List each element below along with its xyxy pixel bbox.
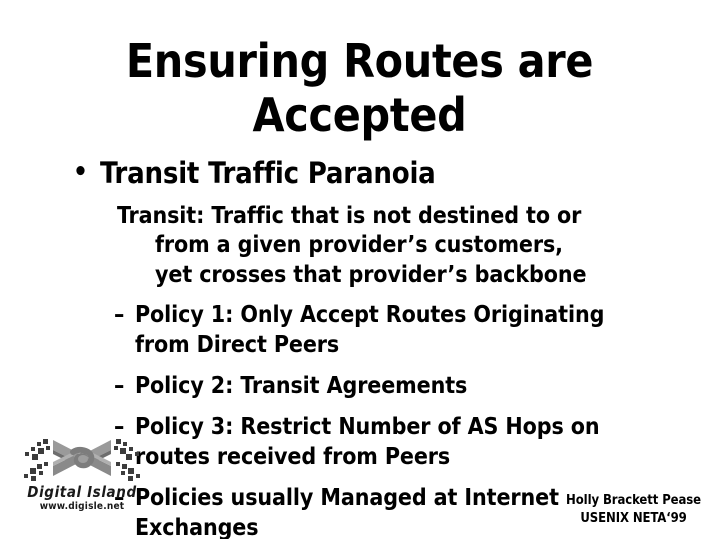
outline-level1-label: Transit Traffic Paranoia: [100, 156, 436, 190]
credit-venue: USENIX NETA‘99: [566, 510, 701, 528]
outline-item-policy-1: – Policy 1: Only Accept Routes Originati…: [0, 301, 640, 361]
outline-level1-item: • Transit Traffic Paranoia: [0, 157, 719, 190]
outline-item-policy-2: – Policy 2: Transit Agreements: [0, 372, 640, 402]
outline-item-label: Policy 2: Transit Agreements: [135, 373, 467, 399]
outline-item-label: Policy 1: Only Accept Routes Originating…: [135, 302, 604, 358]
logo-name: Digital Island: [23, 483, 141, 501]
dash-bullet-icon: –: [114, 372, 124, 402]
slide-canvas: Ensuring Routes are Accepted • Transit T…: [0, 0, 719, 539]
credit-author: Holly Brackett Pease: [566, 492, 701, 510]
dash-bullet-icon: –: [114, 301, 124, 331]
outline-item-label: Policies usually Managed at Internet Exc…: [135, 485, 559, 539]
credit-block: Holly Brackett Pease USENIX NETA‘99: [566, 492, 701, 529]
outline-item-label: Policy 3: Restrict Number of AS Hops on …: [135, 414, 600, 470]
digital-island-logo: Digital Island www.digisle.net: [23, 430, 141, 518]
digital-island-x-mark-icon: [23, 430, 141, 486]
bullet-icon: •: [73, 157, 88, 188]
title-line-1: Ensuring Routes are: [40, 34, 679, 88]
page-title: Ensuring Routes are Accepted: [40, 34, 679, 143]
logo-url: www.digisle.net: [23, 501, 141, 512]
title-line-2: Accepted: [40, 88, 679, 142]
definition-paragraph: Transit: Traffic that is not destined to…: [0, 202, 600, 290]
